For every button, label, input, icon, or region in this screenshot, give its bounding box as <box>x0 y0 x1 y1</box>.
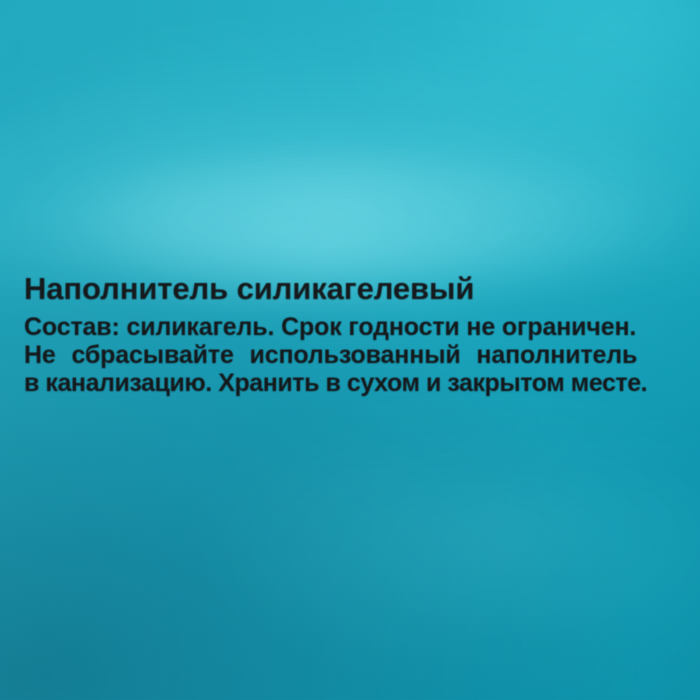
label-title: Наполнитель силикагелевый <box>24 270 676 308</box>
label-line-disposal-warning: Не сбрасывайте использованный наполнител… <box>24 343 676 368</box>
label-line-storage-instruction: в канализацию. Хранить в сухом и закрыто… <box>24 371 676 396</box>
product-label-photo: Наполнитель силикагелевый Состав: силика… <box>0 0 700 700</box>
gloss-sheen-band <box>28 161 686 273</box>
label-line-composition: Состав: силикагель. Срок годности не огр… <box>24 315 676 340</box>
label-text-block: Наполнитель силикагелевый Состав: силика… <box>24 270 676 396</box>
